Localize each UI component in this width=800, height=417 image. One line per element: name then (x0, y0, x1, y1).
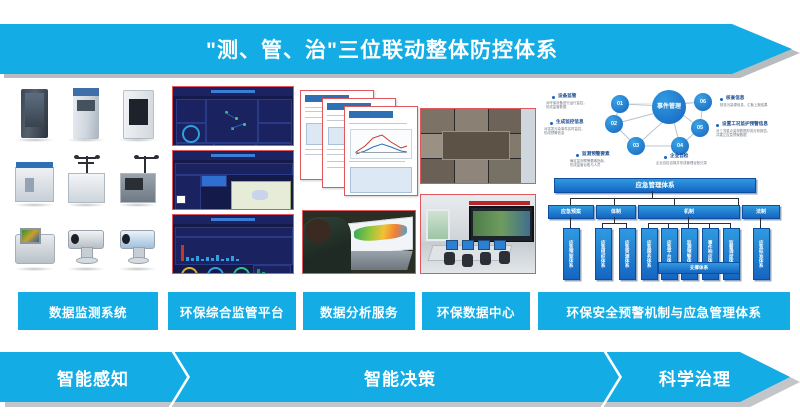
page-title: "测、管、治"三位联动整体防控体系 (206, 34, 558, 64)
category-label-analysis-service[interactable]: 数据分析服务 (303, 292, 415, 330)
tree-leaf-fuwu: 应急服务体系 (641, 228, 658, 280)
category-label-emergency-system[interactable]: 环保安全预警机制与应急管理体系 (538, 292, 790, 330)
category-label-supervision-platform[interactable]: 环保综合监管平台 (168, 292, 296, 330)
hub-bullet-04 (664, 156, 667, 159)
hub-label-02: 生成监控信息 (556, 119, 584, 125)
tree-root-node: 应急管理体系 (554, 178, 756, 193)
hub-desc-04: 企业自检自报并形成管理台账记录 (656, 161, 707, 165)
hub-bullet-06 (720, 98, 723, 101)
equipment-photo-cabinet-dark (10, 84, 59, 145)
tree-leaf-ziyuan: 应急资源体系 (619, 228, 636, 280)
tree-branch-fazhi: 法制 (742, 205, 780, 219)
hub-desc-03: 确定监测预警要素指标，形成监管台账与人员 (570, 159, 607, 168)
hub-node-03: 03 (627, 137, 645, 155)
report-trend-chart-icon (351, 130, 411, 158)
hub-node-06: 06 (694, 93, 712, 111)
hub-center-node: 事件管理 (652, 90, 686, 124)
tree-branch-jizhi: 机制 (638, 205, 740, 219)
control-room-photo (420, 194, 536, 274)
report-document-stack (300, 90, 416, 194)
category-label-row: 数据监测系统 环保综合监管平台 数据分析服务 环保数据中心 环保安全预警机制与应… (0, 292, 800, 330)
equipment-photo-grid (10, 84, 162, 274)
equipment-photo-micro-station (62, 148, 111, 209)
dashboard-analysis-board (172, 214, 294, 274)
title-banner: "测、管、治"三位联动整体防控体系 (0, 24, 800, 76)
tree-support-system-bar: 支撑体系 (658, 262, 740, 274)
emergency-org-tree: 应急管理体系 应急预案 体制 机制 法制 (542, 178, 790, 282)
hub-bullet-05 (716, 124, 719, 127)
event-management-hub-diagram: 事件管理 01 02 03 04 05 06 设备监管 对环保设备进行运行监控，… (540, 84, 792, 176)
hub-desc-01: 对环保设备进行运行监控，形成监管数据 (546, 101, 587, 110)
hub-label-03: 监测预警要素 (582, 151, 610, 157)
tree-leaf-yjya-tixi: 应急预案体系 (563, 228, 580, 280)
tree-branch-tizhi: 体制 (596, 205, 636, 219)
emergency-management-diagram: 事件管理 01 02 03 04 05 06 设备监管 对环保设备进行运行监控，… (540, 82, 792, 282)
data-analysis-photo (302, 210, 416, 274)
phase-label-decision[interactable]: 智能决策 (210, 352, 590, 402)
hub-label-01: 设备监管 (558, 93, 576, 99)
infographic-canvas: "测、管、治"三位联动整体防控体系 (0, 0, 800, 417)
equipment-photo-station-shelter (10, 148, 59, 209)
hub-bullet-03 (576, 154, 579, 157)
cctv-multiview-photo (420, 108, 536, 184)
hub-desc-06: 核查污染源信息，汇聚上报结果 (720, 103, 767, 107)
content-area: 事件管理 01 02 03 04 05 06 设备监管 对环保设备进行运行监控，… (0, 82, 800, 282)
hub-label-05: 设置工况监护预警信息 (722, 121, 768, 127)
phase-label-governance[interactable]: 科学治理 (620, 352, 770, 402)
phase-label-perception[interactable]: 智能感知 (18, 352, 168, 402)
category-label-data-monitoring[interactable]: 数据监测系统 (18, 292, 158, 330)
category-label-data-center[interactable]: 环保数据中心 (422, 292, 530, 330)
hub-desc-02: 对突发污染事件实时监控，形成预警信息 (544, 127, 585, 136)
hub-desc-05: 对工况重点监测数据形成分析报告，并建立应急预案数据 (716, 129, 770, 138)
equipment-photo-ptz-camera (62, 213, 111, 274)
phase-arrow-bar: 智能感知 智能决策 科学治理 (0, 352, 800, 410)
hub-node-05: 05 (691, 119, 709, 137)
equipment-photo-weather-sensor (113, 148, 162, 209)
hub-bullet-02 (550, 122, 553, 125)
equipment-photo-portable-analyzer (10, 213, 59, 274)
report-document-front (344, 106, 418, 196)
dashboard-source-map-platform (172, 150, 294, 210)
hub-node-02: 02 (605, 115, 623, 133)
dashboard-situation-overview (172, 86, 294, 146)
hub-label-06: 核查信息 (726, 95, 744, 101)
hub-label-04: 企业自检 (670, 153, 688, 159)
banner-arrow-shape: "测、管、治"三位联动整体防控体系 (0, 24, 792, 74)
tree-branch-yjya: 应急预案 (548, 205, 594, 219)
equipment-photo-sampler-cabinet (113, 84, 162, 145)
equipment-photo-thermal-camera (113, 213, 162, 274)
hub-node-01: 01 (611, 95, 629, 113)
tree-leaf-biaozhun: 应急标准体系 (753, 228, 770, 280)
hub-bullet-01 (552, 96, 555, 99)
dashboard-screenshot-stack (172, 86, 294, 274)
equipment-photo-analyzer-rack (62, 84, 111, 145)
tree-leaf-zuzhi: 应急组织体系 (595, 228, 612, 280)
